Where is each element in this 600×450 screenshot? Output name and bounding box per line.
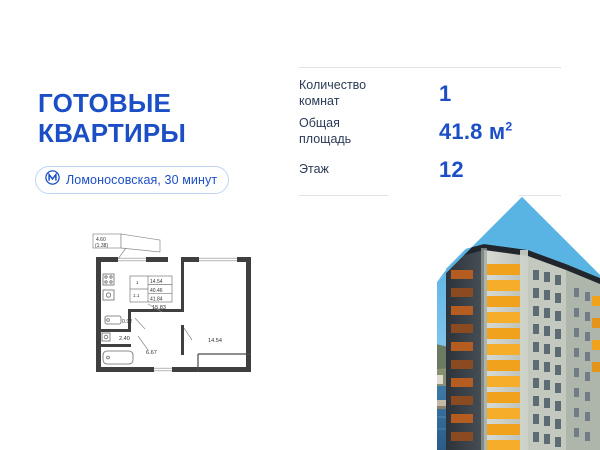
- summary-index: 1.1: [133, 293, 140, 298]
- spec-row-area: Общая площадь 41.8 м2: [299, 113, 561, 151]
- spec-value-area-text: 41.8 м: [439, 119, 505, 144]
- room-area-bathroom: 2.40: [119, 336, 130, 342]
- spec-row-floor: Этаж 12: [299, 151, 561, 189]
- spec-row-list: Количество комнат 1 Общая площадь 41.8 м…: [299, 68, 561, 195]
- page-title: ГОТОВЫЕ КВАРТИРЫ: [38, 88, 278, 148]
- spec-label-rooms: Количество комнат: [299, 78, 439, 110]
- upper-left-fill-mask: [388, 278, 437, 312]
- room-area-hall: 6.67: [146, 350, 157, 356]
- summary-area-total: 41.84: [150, 297, 163, 303]
- room-area-kitchen-living: 15.83: [152, 305, 166, 311]
- spec-label-area: Общая площадь: [299, 116, 439, 148]
- spec-value-area-unit: 2: [505, 120, 512, 134]
- plan-kitchen-fixtures: [103, 274, 114, 300]
- building-photo-svg: [388, 192, 600, 450]
- summary-apartment-number: 1: [136, 280, 139, 285]
- left-column: ГОТОВЫЕ КВАРТИРЫ Ломоносовская, 30 минут: [0, 0, 290, 450]
- summary-area-no-balcony: 40.46: [150, 288, 163, 294]
- floor-plan-svg: 4.60 (1.38) 1 1.1 14.54 40.46 41.84 15.8…: [88, 232, 263, 377]
- balcony-coeff-label: (1.38): [95, 243, 108, 249]
- room-area-wc: 0.92: [122, 319, 132, 325]
- metro-logo-icon: [45, 170, 60, 190]
- spec-value-area: 41.8 м2: [439, 121, 512, 143]
- building-photo-composition: [388, 192, 600, 450]
- apartment-spec-panel: Количество комнат 1 Общая площадь 41.8 м…: [299, 67, 561, 196]
- spec-value-rooms-text: 1: [439, 81, 451, 106]
- metro-station-badge[interactable]: Ломоносовская, 30 минут: [35, 166, 229, 194]
- spec-value-floor-text: 12: [439, 157, 464, 182]
- spec-row-rooms: Количество комнат 1: [299, 75, 561, 113]
- room-area-bedroom: 14.54: [208, 338, 222, 344]
- metro-station-label: Ломоносовская, 30 минут: [66, 173, 217, 187]
- spec-label-floor: Этаж: [299, 162, 439, 178]
- summary-living-area: 14.54: [150, 279, 163, 285]
- floor-plan: 4.60 (1.38) 1 1.1 14.54 40.46 41.84 15.8…: [88, 232, 263, 377]
- spec-value-floor: 12: [439, 159, 464, 181]
- spec-value-rooms: 1: [439, 83, 451, 105]
